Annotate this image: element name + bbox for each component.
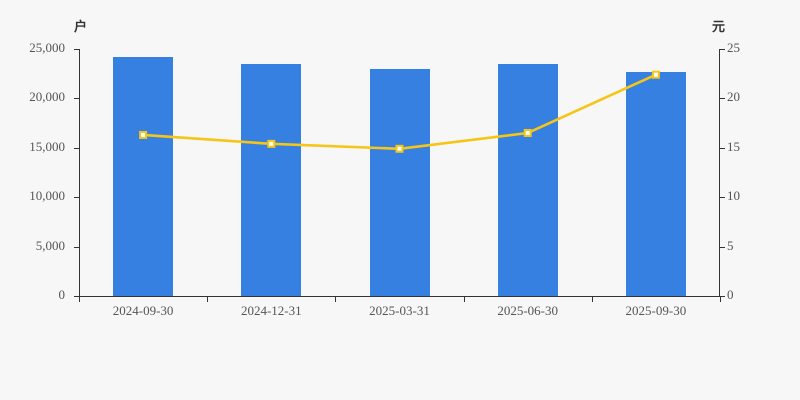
left-tick-label: 20,000 [29, 89, 65, 105]
x-axis [79, 296, 720, 297]
right-tick-mark [720, 148, 725, 149]
bar-data-point[interactable] [498, 64, 558, 296]
left-tick-mark [74, 49, 79, 50]
left-tick-mark [74, 98, 79, 99]
right-tick-label: 0 [727, 287, 734, 303]
right-axis-unit-label: 元 [712, 16, 725, 35]
left-tick-mark [74, 197, 79, 198]
right-tick-label: 25 [727, 40, 740, 56]
bar-data-point[interactable] [626, 72, 686, 296]
right-y-axis [719, 49, 720, 297]
left-axis-unit-label: 户 [74, 16, 87, 35]
right-tick-label: 15 [727, 139, 740, 155]
left-tick-label: 0 [59, 287, 66, 303]
x-tick-mark [207, 297, 208, 302]
right-tick-label: 5 [727, 238, 734, 254]
right-tick-label: 20 [727, 89, 740, 105]
left-tick-label: 25,000 [29, 40, 65, 56]
left-tick-mark [74, 148, 79, 149]
bar-data-point[interactable] [370, 69, 430, 296]
chart-container: 户 元 05,00010,00015,00020,00025,000 05101… [0, 0, 800, 400]
right-tick-mark [720, 98, 725, 99]
x-axis-category-label: 2025-06-30 [497, 303, 558, 319]
x-axis-category-label: 2024-09-30 [113, 303, 174, 319]
x-tick-mark [720, 297, 721, 302]
left-tick-label: 10,000 [29, 188, 65, 204]
x-tick-mark [464, 297, 465, 302]
x-tick-mark [335, 297, 336, 302]
x-tick-mark [79, 297, 80, 302]
bar-data-point[interactable] [241, 64, 301, 296]
left-tick-label: 15,000 [29, 139, 65, 155]
right-tick-label: 10 [727, 188, 740, 204]
right-tick-mark [720, 49, 725, 50]
x-tick-mark [592, 297, 593, 302]
left-tick-mark [74, 247, 79, 248]
bar-data-point[interactable] [113, 57, 173, 296]
x-axis-category-label: 2025-09-30 [626, 303, 687, 319]
left-y-axis [79, 49, 80, 297]
right-tick-mark [720, 247, 725, 248]
right-tick-mark [720, 197, 725, 198]
x-axis-category-label: 2025-03-31 [369, 303, 430, 319]
x-axis-category-label: 2024-12-31 [241, 303, 302, 319]
left-tick-label: 5,000 [36, 238, 65, 254]
